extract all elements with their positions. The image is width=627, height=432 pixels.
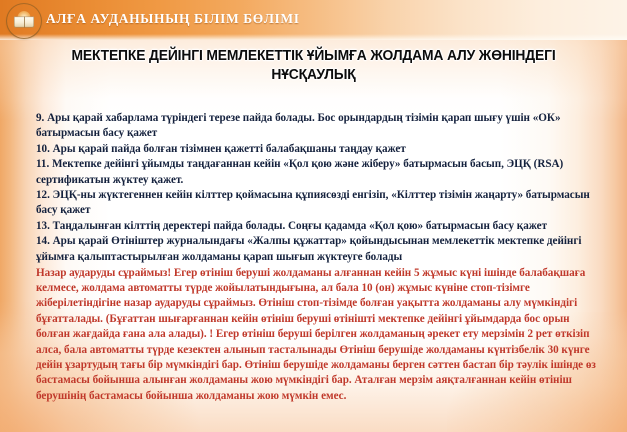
instruction-step: 12. ЭЦҚ-ны жүктегеннен кейін кілттер қой…: [36, 188, 602, 219]
education-department-emblem-icon: [7, 4, 41, 38]
page-title: МЕКТЕПКЕ ДЕЙІНГІ МЕМЛЕКЕТТІК ҰЙЫМҒА ЖОЛД…: [56, 47, 571, 85]
instruction-step: 13. Таңдалынған кілттің деректері пайда …: [36, 219, 602, 234]
instruction-step: 14. Ары қарай Өтініштер журналындағы «Жа…: [36, 234, 602, 265]
organization-name: АЛҒА АУДАНЫНЫҢ БІЛІМ БӨЛІМІ: [46, 11, 300, 27]
instruction-step: 9. Ары қарай хабарлама түріндегі терезе …: [36, 111, 602, 142]
instruction-body: 9. Ары қарай хабарлама түріндегі терезе …: [36, 111, 602, 404]
emblem-book-icon: [14, 17, 34, 28]
attention-notice: Назар аударуды сұраймыз! Егер өтініш бер…: [36, 266, 602, 405]
slide-canvas: АЛҒА АУДАНЫНЫҢ БІЛІМ БӨЛІМІ МЕКТЕПКЕ ДЕЙ…: [0, 0, 627, 432]
instruction-step: 10. Ары қарай пайда болған тізімнен қаже…: [36, 142, 602, 157]
instruction-step: 11. Мектепке дейінгі ұйымды таңдағаннан …: [36, 157, 602, 188]
